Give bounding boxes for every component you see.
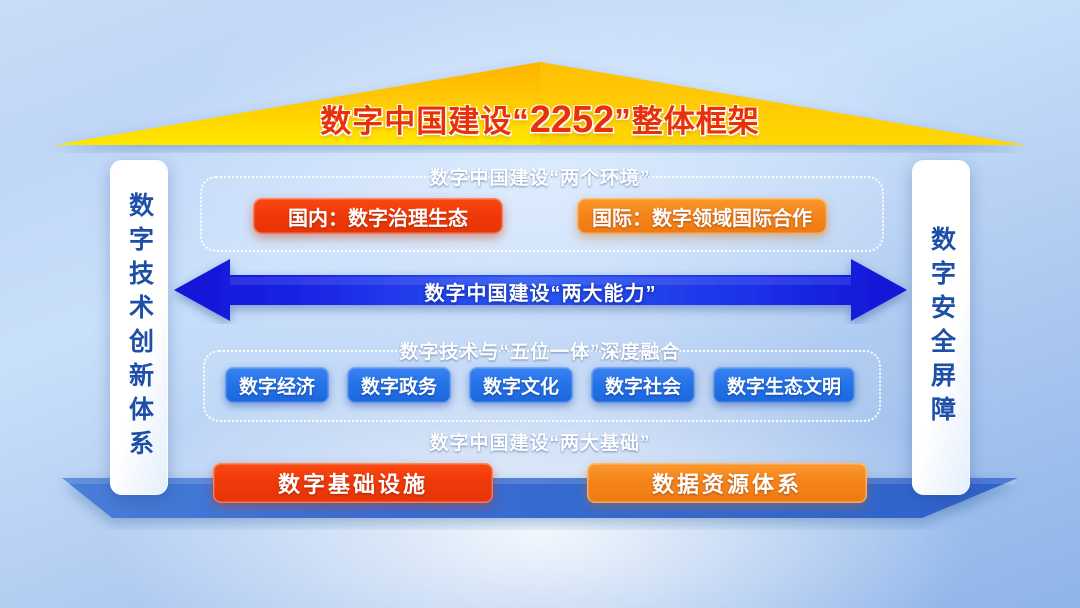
pill-digital-culture[interactable]: 数字文化 (469, 367, 573, 403)
pill-3-label: 数字社会 (605, 372, 681, 399)
pill-2-label: 数字文化 (483, 372, 559, 399)
pillar-right-label: 数字安全屏障 (929, 226, 954, 430)
roof-title-quote-open: “ (512, 102, 530, 139)
pill-digital-eco-civilization[interactable]: 数字生态文明 (713, 367, 855, 403)
foundations-heading: 数字中国建设“两大基础” (0, 428, 1080, 455)
chip-international-cooperation[interactable]: 国际：数字领域国际合作 (577, 198, 827, 234)
capabilities-heading: 数字中国建设“两大能力” (168, 277, 913, 306)
five-in-one-heading: 数字技术与“五位一体”深度融合 (0, 337, 1080, 364)
infographic-canvas: 数字中国建设“2252”整体框架 数字技术创新体系 数字安全屏障 (0, 0, 1080, 608)
environments-heading: 数字中国建设“两个环境” (0, 163, 1080, 190)
roof-title-prefix: 数字中国建设 (320, 104, 512, 139)
chip-env-0-label: 国内：数字治理生态 (288, 202, 468, 231)
chip-digital-infrastructure[interactable]: 数字基础设施 (213, 463, 493, 503)
five-in-one-pill-row: 数字经济 数字政务 数字文化 数字社会 数字生态文明 (225, 367, 855, 403)
roof-title-suffix: 整体框架 (632, 104, 760, 139)
chip-base-1-label: 数据资源体系 (652, 467, 802, 499)
chip-env-1-label: 国际：数字领域国际合作 (592, 202, 812, 231)
pill-digital-government[interactable]: 数字政务 (347, 367, 451, 403)
pill-1-label: 数字政务 (361, 372, 437, 399)
pill-4-label: 数字生态文明 (727, 372, 841, 399)
pill-digital-society[interactable]: 数字社会 (591, 367, 695, 403)
pill-0-label: 数字经济 (239, 372, 315, 399)
page-title: 数字中国建设“2252”整体框架 (0, 96, 1080, 142)
chip-data-resource-system[interactable]: 数据资源体系 (587, 463, 867, 503)
pillar-left-label: 数字技术创新体系 (127, 192, 152, 464)
chip-domestic-governance-ecosystem[interactable]: 国内：数字治理生态 (253, 198, 503, 234)
chip-base-0-label: 数字基础设施 (278, 467, 428, 499)
roof-title-quote-close: ” (614, 102, 632, 139)
roof-title-number: 2252 (530, 99, 615, 141)
pill-digital-economy[interactable]: 数字经济 (225, 367, 329, 403)
